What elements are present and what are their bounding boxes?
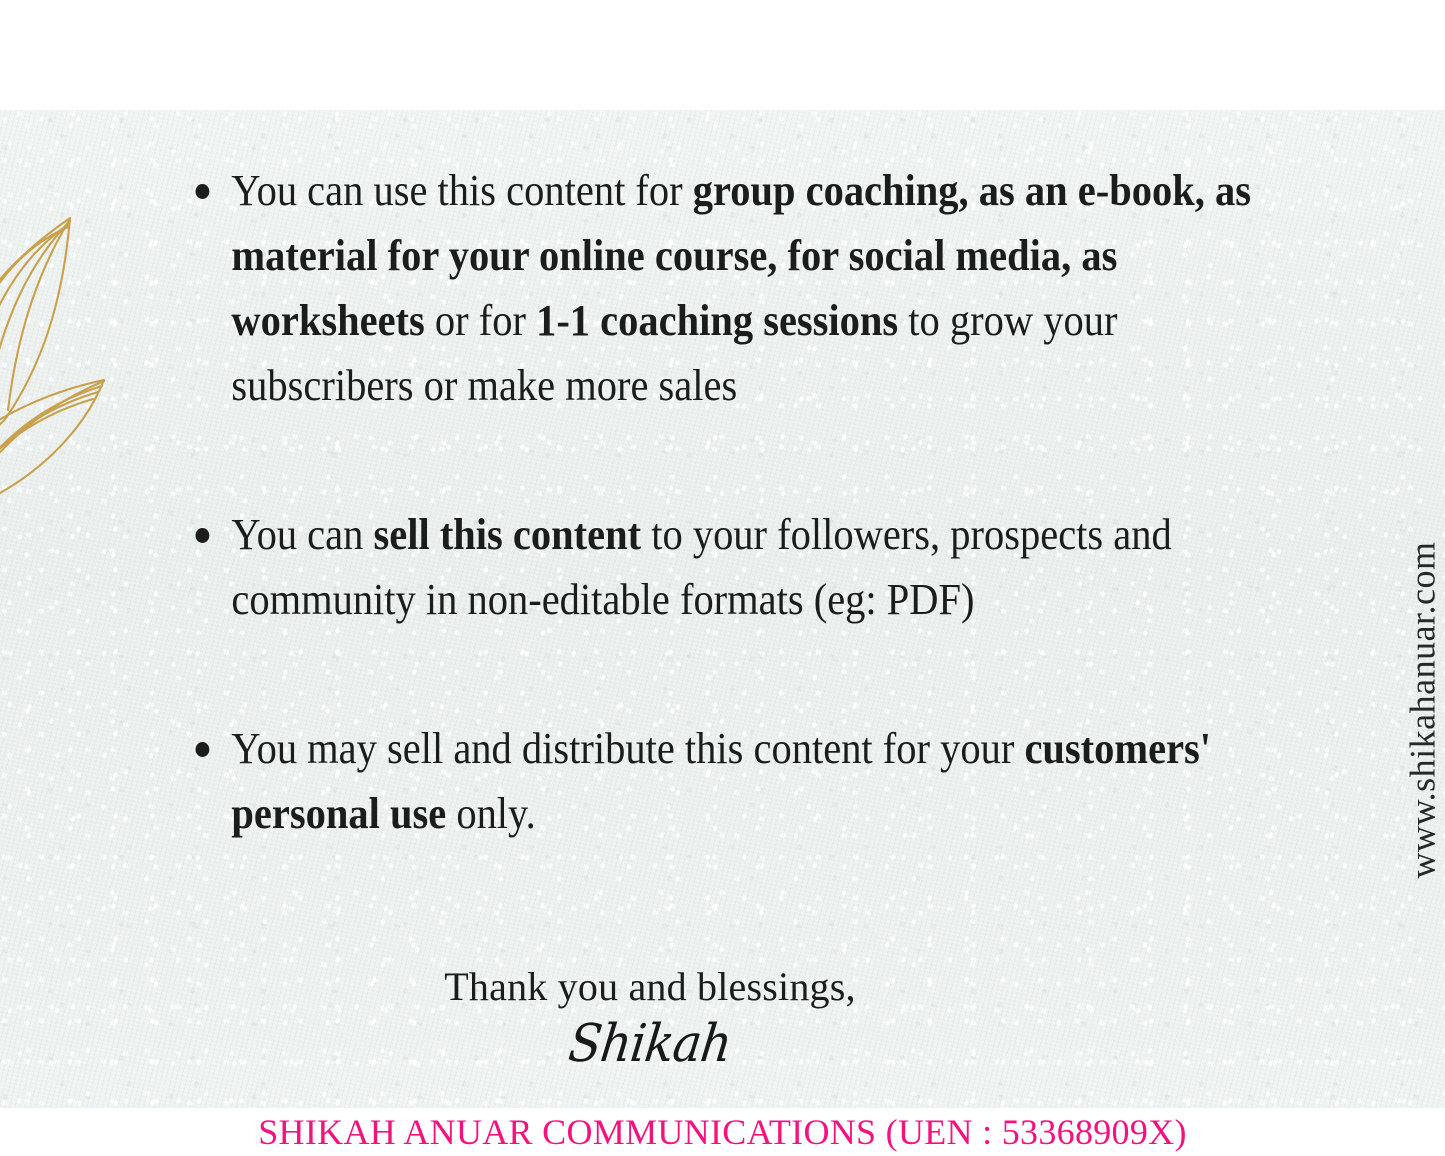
terms-list: You can use this content for group coach… (190, 158, 1285, 846)
terms-of-use-page: You can use this content for group coach… (0, 0, 1445, 1156)
signature: Shikah (565, 1013, 734, 1075)
bullet-text-distribution-rights: You may sell and distribute this content… (231, 724, 1211, 838)
website-url-vertical[interactable]: www.shikahanuar.com (1403, 505, 1443, 915)
header-band (0, 0, 1445, 110)
closing-block: Thank you and blessings, Shikah (0, 963, 1300, 1075)
bullet-dot-icon (196, 528, 210, 543)
bullet-text-selling-rights: You can sell this content to your follow… (231, 510, 1171, 624)
bullet-dot-icon (196, 184, 210, 199)
footer-company-name: SHIKAH ANUAR COMMUNICATIONS (UEN : 53368… (0, 1110, 1445, 1154)
bullet-dot-icon (196, 742, 210, 757)
list-item: You can sell this content to your follow… (190, 502, 1207, 632)
thank-you-text: Thank you and blessings, (0, 963, 1300, 1011)
bullet-text-usage-rights: You can use this content for group coach… (231, 166, 1251, 410)
website-url-text: www.shikahanuar.com (1403, 541, 1443, 878)
list-item: You can use this content for group coach… (190, 158, 1262, 418)
list-item: You may sell and distribute this content… (190, 716, 1271, 846)
